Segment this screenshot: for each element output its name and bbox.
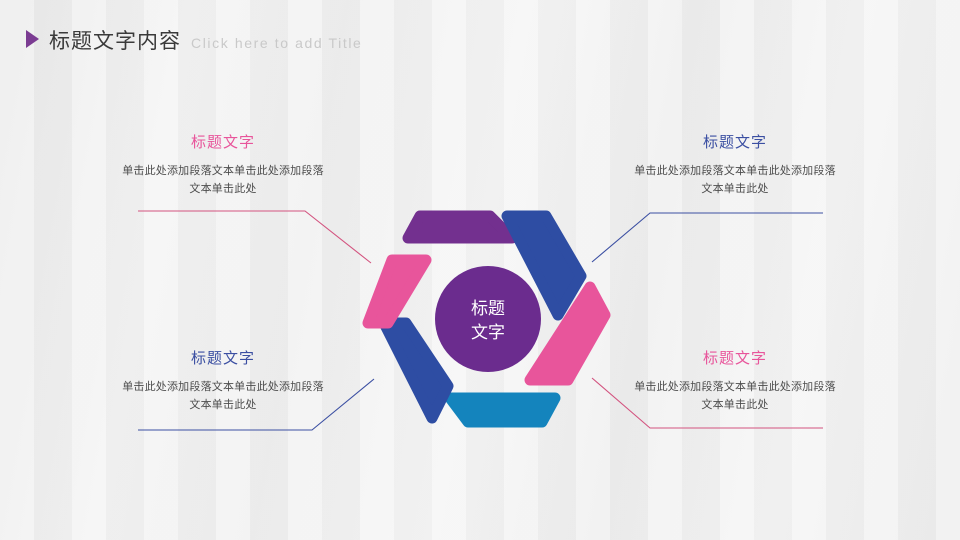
- page-subtitle-placeholder: Click here to add Title: [191, 36, 362, 50]
- block-heading[interactable]: 标题文字: [113, 134, 333, 153]
- text-block-bottom-left[interactable]: 标题文字 单击此处添加段落文本单击此处添加段落文本单击此处: [113, 350, 333, 414]
- text-block-bottom-right[interactable]: 标题文字 单击此处添加段落文本单击此处添加段落文本单击此处: [625, 350, 845, 414]
- block-body[interactable]: 单击此处添加段落文本单击此处添加段落文本单击此处: [113, 162, 333, 198]
- slide-canvas: 标题文字内容 Click here to add Title: [0, 0, 960, 540]
- block-heading[interactable]: 标题文字: [113, 350, 333, 369]
- connector-top-left: [138, 211, 371, 263]
- hexagonal-pinwheel-diagram: 标题 文字: [340, 190, 640, 450]
- segment-upper-left[interactable]: [368, 260, 426, 323]
- page-title: 标题文字内容: [49, 31, 181, 52]
- block-body[interactable]: 单击此处添加段落文本单击此处添加段落文本单击此处: [113, 378, 333, 414]
- triangle-right-icon: [26, 30, 39, 48]
- block-body[interactable]: 单击此处添加段落文本单击此处添加段落文本单击此处: [625, 162, 845, 198]
- block-body[interactable]: 单击此处添加段落文本单击此处添加段落文本单击此处: [625, 378, 845, 414]
- center-circle[interactable]: [435, 266, 541, 372]
- center-label-line1: 标题: [471, 299, 505, 318]
- center-label-line2: 文字: [471, 323, 505, 342]
- segment-bottom[interactable]: [450, 398, 555, 422]
- segment-top[interactable]: [408, 216, 512, 238]
- block-heading[interactable]: 标题文字: [625, 134, 845, 153]
- text-block-top-left[interactable]: 标题文字 单击此处添加段落文本单击此处添加段落文本单击此处: [113, 134, 333, 198]
- slide-header: 标题文字内容 Click here to add Title: [26, 30, 362, 52]
- text-block-top-right[interactable]: 标题文字 单击此处添加段落文本单击此处添加段落文本单击此处: [625, 134, 845, 198]
- block-heading[interactable]: 标题文字: [625, 350, 845, 369]
